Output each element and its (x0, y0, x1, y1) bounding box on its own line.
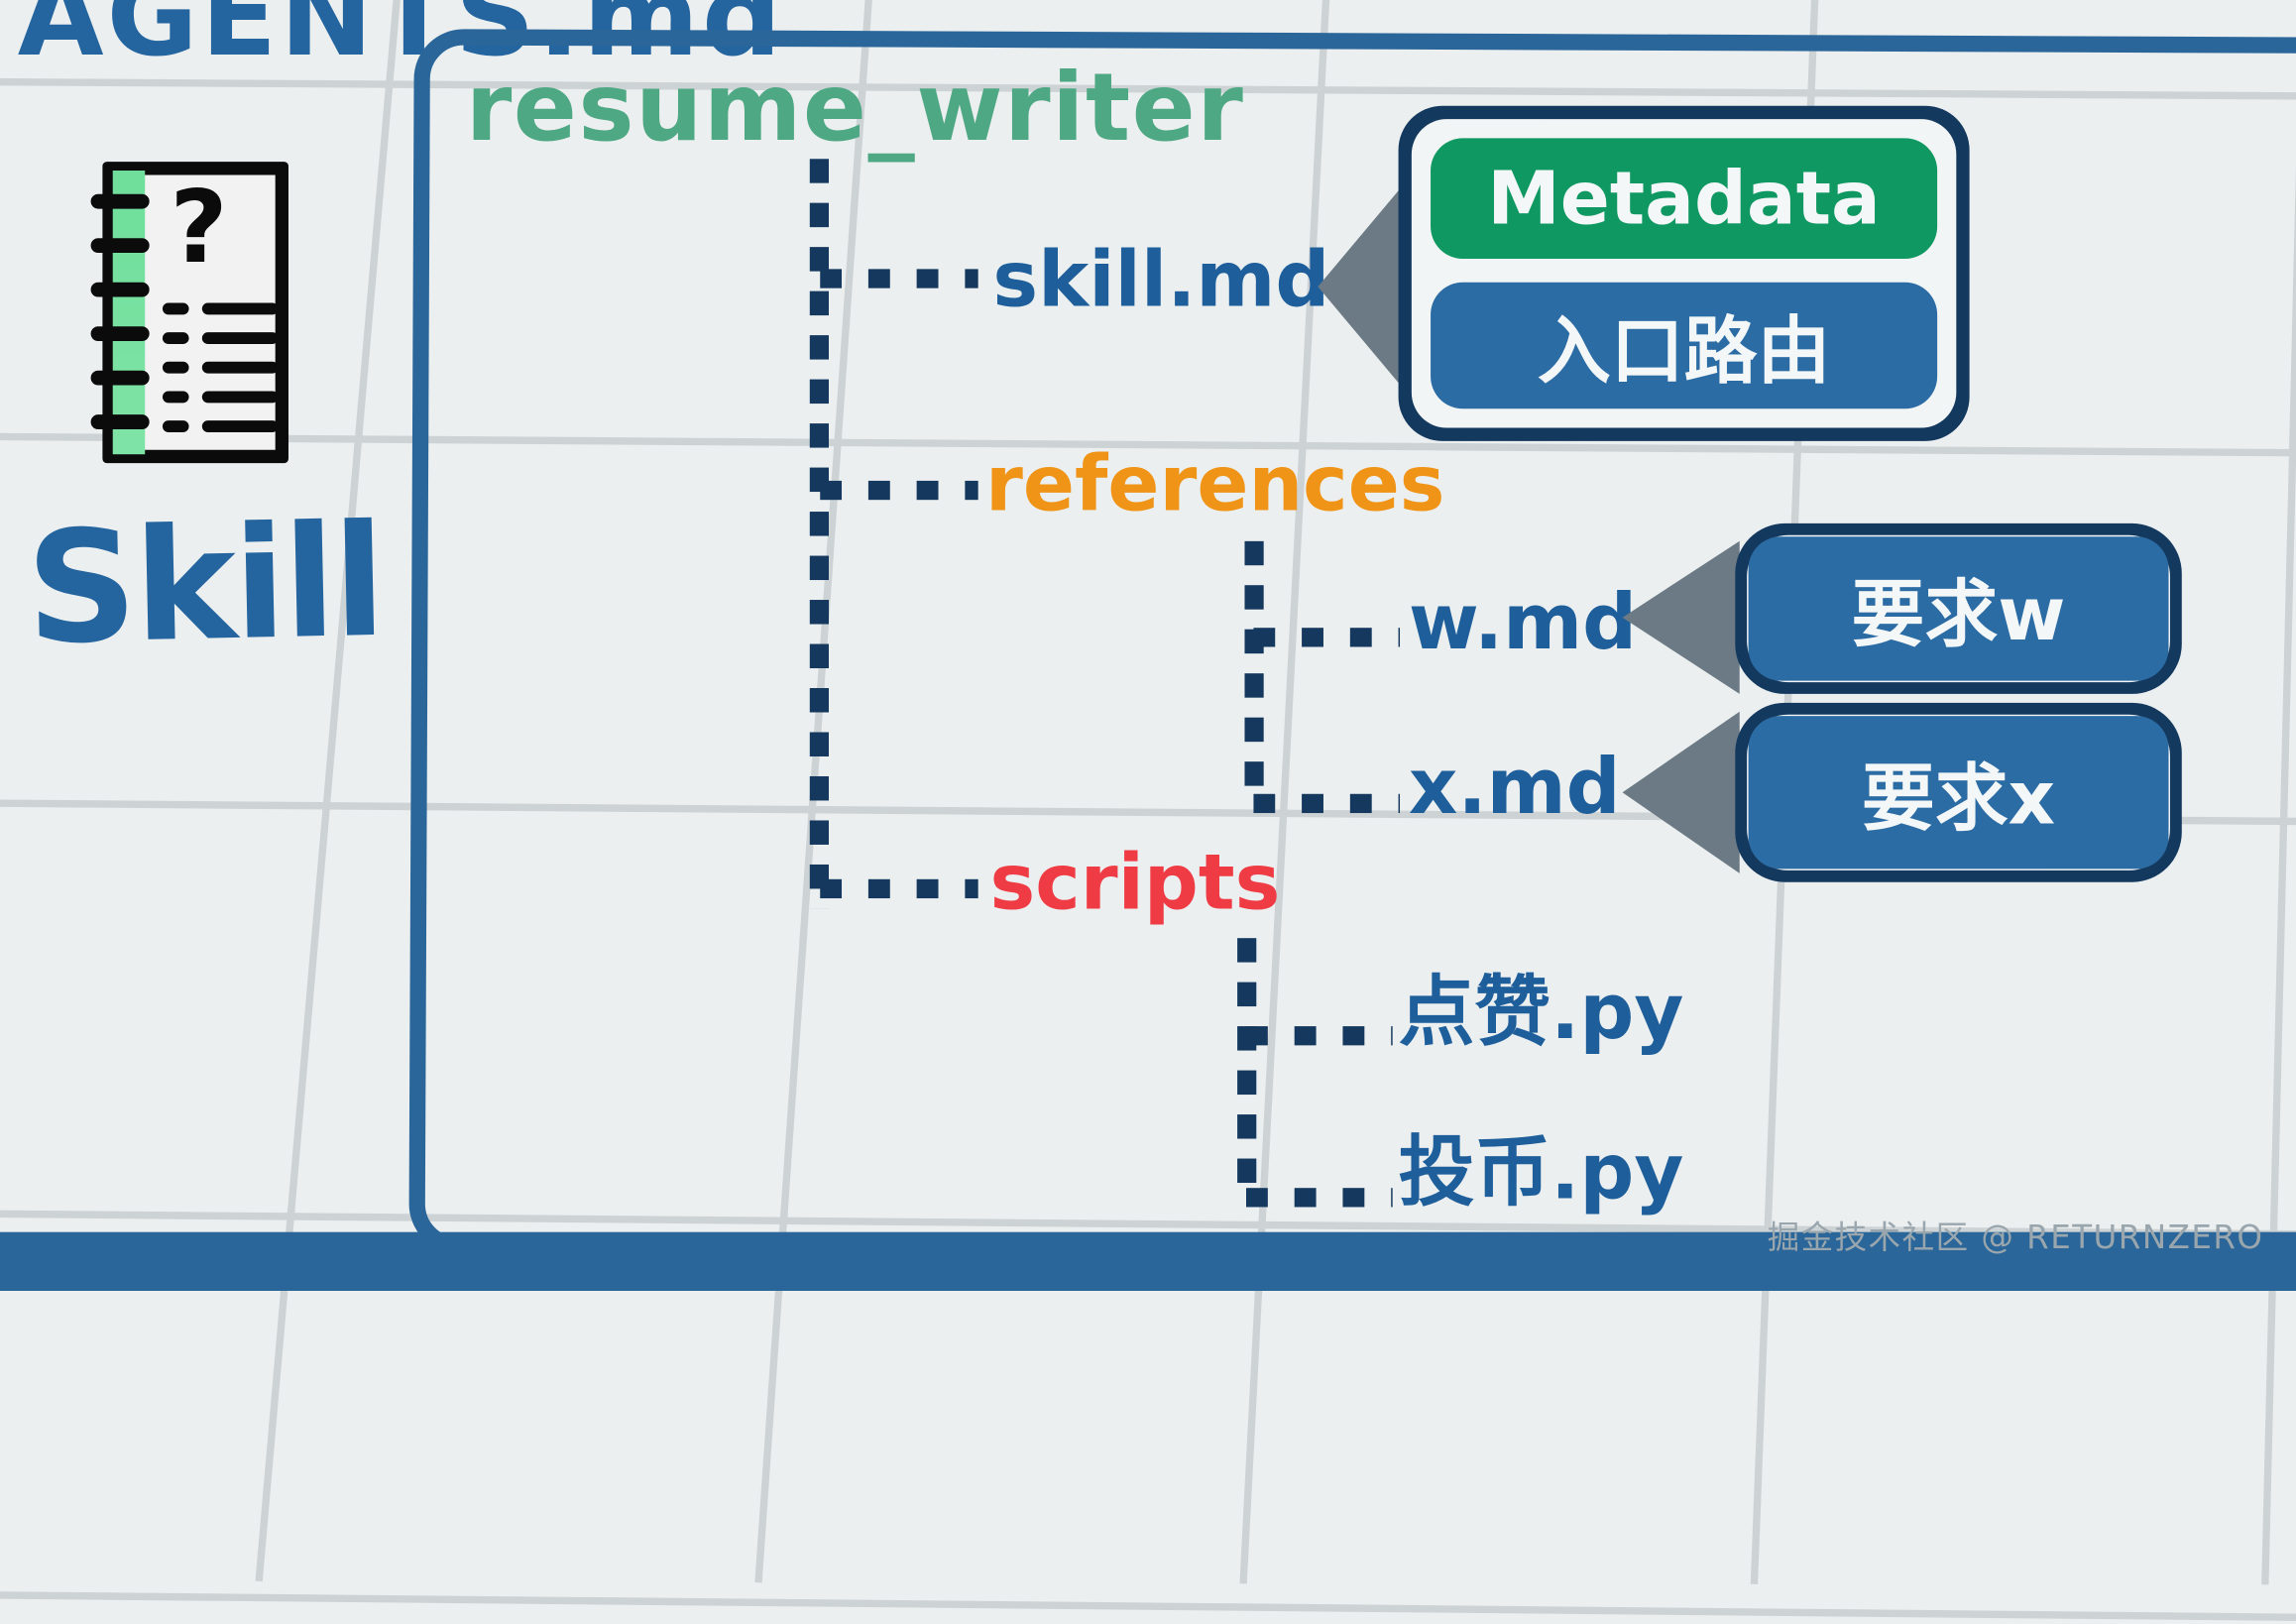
notebook-ring (91, 414, 150, 429)
tree-root-label: resume_writer (466, 61, 1245, 156)
callout-pill-metadata[interactable]: Metadata (1431, 138, 1937, 259)
notebook-ring (91, 194, 150, 209)
tree-branch-toubi-py (1246, 1188, 1393, 1207)
tree-node-scripts[interactable]: scripts (989, 846, 1280, 922)
tree-node-x-md[interactable]: x.md (1409, 750, 1621, 826)
notebook-line (202, 420, 279, 432)
tree-branch-references (820, 481, 978, 500)
tree-node-dianzan-py[interactable]: 点赞.py (1399, 975, 1684, 1051)
notebook-line (202, 362, 279, 374)
tree-branch-w-md (1253, 628, 1400, 646)
notebook-line (202, 302, 279, 314)
notebook-ring (91, 238, 150, 253)
callout-pointer-w-md (1623, 541, 1740, 694)
tree-node-references[interactable]: references (985, 447, 1444, 523)
notebook-spine (113, 171, 145, 454)
watermark: 掘金技术社区 @ RETURNZERO (1768, 1212, 2264, 1258)
callout-pill-requirement-x[interactable]: 要求x (1749, 716, 2169, 869)
tree-node-w-md[interactable]: w.md (1409, 585, 1637, 661)
notebook-bullet (163, 332, 189, 344)
notebook-ring (91, 326, 150, 341)
tree-branch-skill-md (820, 269, 978, 288)
callout-pill-requirement-w[interactable]: 要求w (1749, 536, 2169, 680)
notebook-ring (91, 283, 150, 297)
notebook-bullet (163, 302, 189, 314)
callout-pointer-x-md (1623, 712, 1740, 873)
tree-branch-x-md (1253, 794, 1400, 813)
notebook-bullet (163, 362, 189, 374)
tree-branch-scripts (820, 879, 978, 898)
notebook-bullet (163, 391, 189, 403)
skill-label: Skill (25, 492, 385, 678)
callout-pill-entry-route[interactable]: 入口路由 (1431, 283, 1937, 409)
diagram-canvas: AGENTS.md ? Skill resume_writer skill.md (0, 0, 2296, 1291)
tree-node-skill-md[interactable]: skill.md (992, 243, 1329, 319)
callout-w-md: 要求w (1735, 523, 2181, 694)
tree-spine-references (1244, 541, 1263, 799)
notebook-line (202, 391, 279, 403)
notebook-question-icon: ? (76, 162, 288, 463)
tree-spine-scripts (1237, 938, 1256, 1200)
callout-skill-md: Metadata 入口路由 (1399, 106, 1970, 441)
tree-branch-dianzan-py (1246, 1026, 1393, 1045)
notebook-ring (91, 371, 150, 386)
notebook-bullet (163, 420, 189, 432)
notebook-line (202, 332, 279, 344)
question-mark-glyph: ? (170, 179, 227, 280)
callout-x-md: 要求x (1735, 703, 2181, 882)
grid-line-h (0, 1588, 2296, 1623)
tree-node-toubi-py[interactable]: 投币.py (1399, 1135, 1684, 1212)
